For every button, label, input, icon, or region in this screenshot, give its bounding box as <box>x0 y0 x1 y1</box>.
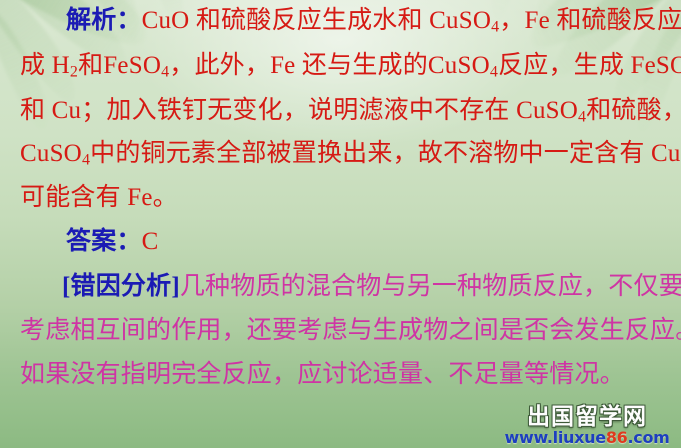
answer-label: 答案： <box>66 228 142 255</box>
formula-subscript: 2 <box>70 64 78 81</box>
analysis-line-3: 和 Cu；加入铁钉无变化，说明滤液中不存在 CuSO4和硫酸， <box>20 98 681 123</box>
analysis-line-2: 成 H2和FeSO4，此外，Fe 还与生成的CuSO4反应，生成 FeSO4 <box>20 53 681 78</box>
watermark-url-part3: .com <box>627 428 669 447</box>
site-watermark: 出国留学网 www.liuxue86.com <box>499 406 675 446</box>
analysis-text: ，此外，Fe 还与生成的CuSO <box>169 52 490 79</box>
analysis-text: 和 Cu；加入铁钉无变化，说明滤液中不存在 CuSO <box>20 97 578 124</box>
formula-subscript: 4 <box>578 109 586 126</box>
error-analysis-text: 几种物质的混合物与另一种物质反应，不仅要 <box>180 273 681 300</box>
analysis-text: 和硫酸， <box>586 97 681 124</box>
watermark-site-name: 出国留学网 <box>499 406 675 429</box>
error-analysis-label: [错因分析] <box>62 273 180 300</box>
analysis-text: ，Fe 和硫酸反应生 <box>499 7 681 34</box>
analysis-label: 解析： <box>66 7 142 34</box>
analysis-text: CuSO <box>20 140 82 167</box>
analysis-text: CuO 和硫酸反应生成水和 CuSO <box>142 7 491 34</box>
formula-subscript: 4 <box>490 64 498 81</box>
analysis-text: 中的铜元素全部被置换出来，故不溶物中一定含有 Cu， <box>90 140 681 167</box>
error-analysis-line-3: 如果没有指明完全反应，应讨论适量、不足量等情况。 <box>20 362 625 387</box>
analysis-text: 反应，生成 FeSO <box>498 52 681 79</box>
watermark-url: www.liuxue86.com <box>499 430 675 446</box>
watermark-url-part1: www.liuxue <box>504 428 605 447</box>
formula-subscript: 4 <box>82 152 90 169</box>
answer-line: 答案：C <box>66 229 158 254</box>
error-analysis-line-2: 考虑相互间的作用，还要考虑与生成物之间是否会发生反应。 <box>20 318 681 343</box>
analysis-text: 和FeSO <box>78 52 161 79</box>
analysis-text: 成 H <box>20 52 70 79</box>
answer-value: C <box>142 228 159 255</box>
analysis-line-1: 解析：CuO 和硫酸反应生成水和 CuSO4，Fe 和硫酸反应生 <box>66 8 681 33</box>
error-analysis-line-1: [错因分析]几种物质的混合物与另一种物质反应，不仅要 <box>62 274 681 299</box>
analysis-line-4: CuSO4中的铜元素全部被置换出来，故不溶物中一定含有 Cu， <box>20 141 681 166</box>
analysis-line-5: 可能含有 Fe。 <box>20 185 178 210</box>
watermark-url-part2: 86 <box>606 428 628 447</box>
slide-canvas: 解析：CuO 和硫酸反应生成水和 CuSO4，Fe 和硫酸反应生 成 H2和Fe… <box>0 0 681 448</box>
